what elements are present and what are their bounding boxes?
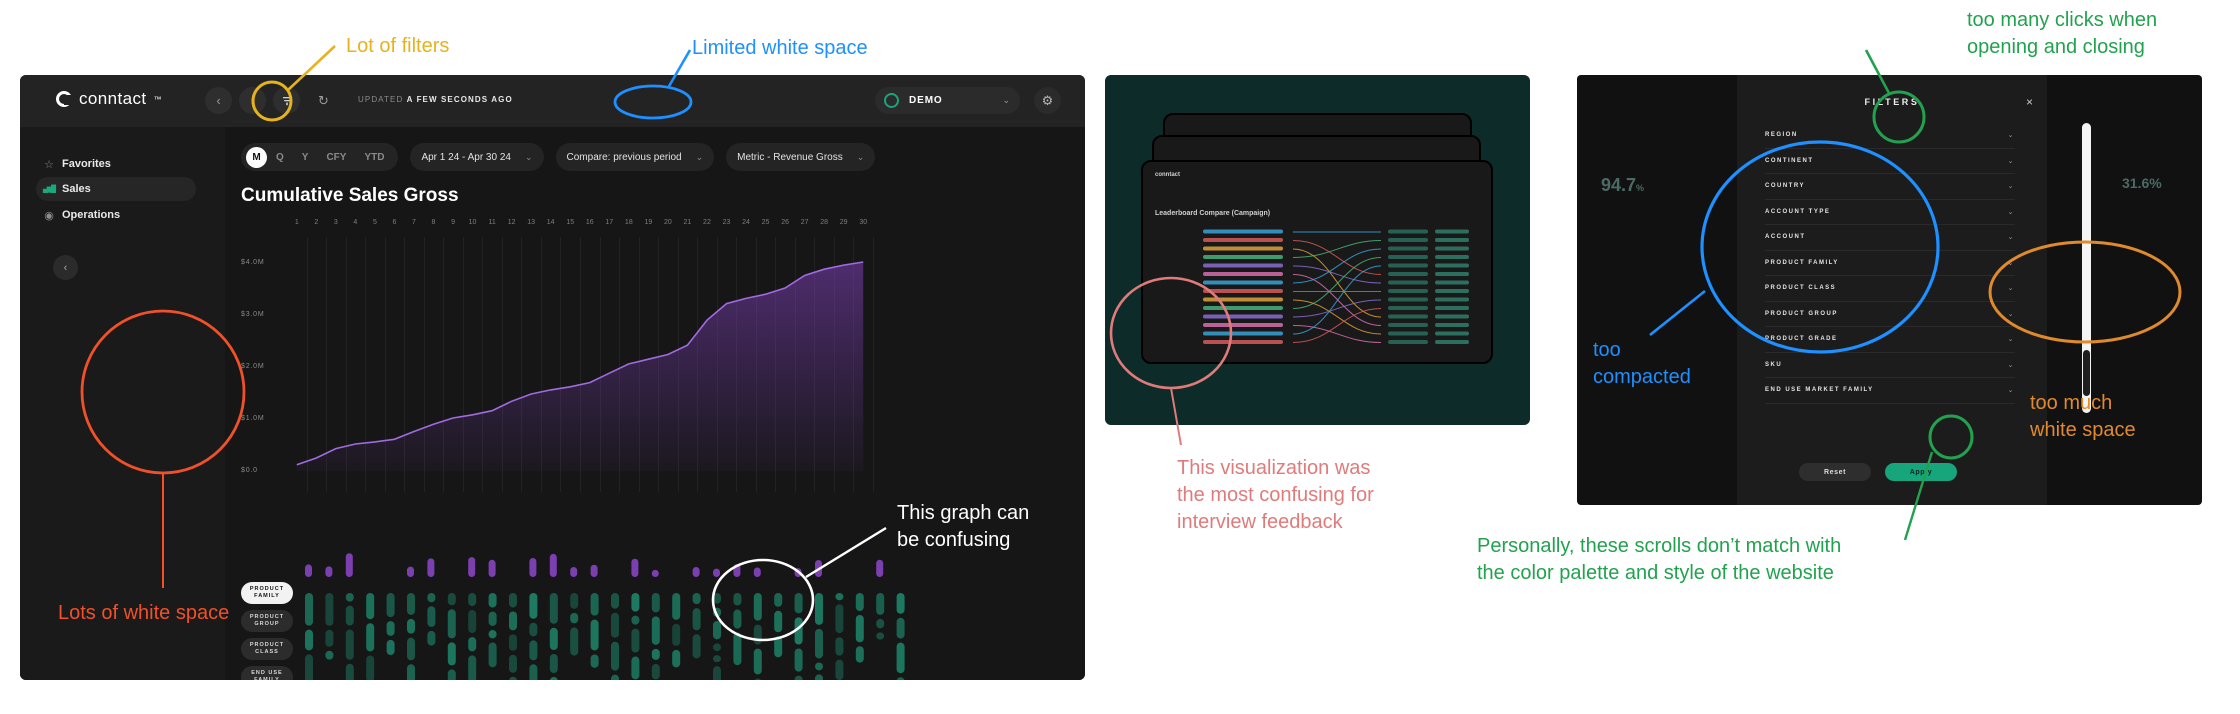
heatmap-capsule [407, 664, 415, 680]
heatmap-capsule [672, 593, 680, 620]
heatmap-capsule [856, 615, 864, 642]
heatmap-capsule [366, 623, 374, 651]
app-topbar: conntact ™ ‹ › ↻ UPDATED A FEW SECONDS A… [20, 75, 1085, 127]
flow-bar [1435, 247, 1469, 251]
chart-plot [241, 219, 881, 499]
flow-bar [1203, 298, 1283, 302]
heatmap-capsule [509, 611, 517, 630]
annotation-scrolls: Personally, these scrolls don’t match wi… [1477, 533, 1841, 587]
heatmap-capsule [652, 649, 660, 660]
heatmap-capsule [774, 636, 782, 657]
sidebar: ☆ Favorites ▄▆█ Sales ◉ Operations ‹ [20, 127, 225, 680]
flow-bar [1388, 306, 1428, 310]
flow-bar [1388, 315, 1428, 319]
heatmap-capsule [346, 593, 354, 602]
heatmap-capsule [693, 593, 701, 604]
heatmap-capsule [489, 642, 497, 667]
heatmap-capsule [774, 611, 782, 632]
heatmap-capsule [489, 593, 497, 608]
filter-row-label: COUNTRY [1765, 183, 1805, 189]
flow-bar [1435, 315, 1469, 319]
category-pill-line: END USE [251, 670, 282, 677]
heatmap-capsule [468, 637, 476, 651]
heatmap-capsule [876, 632, 884, 639]
flow-bar [1203, 272, 1283, 276]
gear-icon[interactable]: ⚙ [1034, 87, 1061, 114]
heatmap-capsule [795, 676, 803, 680]
flow-bar [1388, 281, 1428, 285]
updated-prefix: UPDATED [358, 95, 403, 104]
heatmap-capsule [733, 610, 741, 629]
category-selector: PRODUCTFAMILYPRODUCTGROUPPRODUCTCLASSEND… [241, 582, 293, 680]
star-icon: ☆ [36, 158, 62, 171]
nav-forward-button[interactable]: › [239, 87, 266, 114]
heatmap-capsule [448, 609, 456, 638]
filter-row-label: PRODUCT CLASS [1765, 285, 1836, 291]
period-option-m[interactable]: M [246, 147, 267, 168]
chevron-down-icon: ⌄ [2008, 233, 2015, 241]
chevron-down-icon: ⌄ [696, 152, 704, 163]
device-mock-front: conntact Leaderboard Compare (Campaign) [1141, 160, 1493, 364]
period-option-ytd[interactable]: YTD [355, 152, 393, 163]
flow-bar [1388, 247, 1428, 251]
flow-bar [1435, 255, 1469, 259]
heatmap-capsule [591, 565, 598, 577]
gauge-icon: ◉ [36, 209, 62, 222]
flow-ribbon [1293, 241, 1381, 258]
filters-modal: FILTERS × REGION⌄CONTINENT⌄COUNTRY⌄ACCOU… [1737, 75, 2047, 505]
heatmap-capsule [631, 616, 639, 625]
category-pill-line: CLASS [255, 649, 279, 656]
heatmap-capsule [570, 613, 578, 624]
annotation-lot-of-filters: Lot of filters [346, 33, 449, 60]
heatmap-capsule [652, 593, 660, 612]
heatmap-capsule [754, 568, 761, 577]
heatmap-capsule [591, 620, 599, 651]
heatmap-capsule [346, 553, 353, 577]
filter-row[interactable]: CONTINENT⌄ [1765, 149, 2015, 175]
heatmap-capsule [897, 593, 905, 614]
heatmap-capsule [795, 617, 803, 644]
flow-bar [1435, 272, 1469, 276]
heatmap-capsule [387, 640, 395, 655]
filter-row-label: ACCOUNT TYPE [1765, 209, 1830, 215]
filter-row[interactable]: END USE MARKET FAMILY⌄ [1765, 378, 2015, 404]
heatmap-capsule [325, 593, 333, 626]
chevron-down-icon: ⌄ [1002, 95, 1010, 106]
heatmap-capsule [693, 567, 700, 577]
heatmap-capsule [815, 674, 823, 680]
flow-bar [1203, 340, 1283, 344]
parallel-flow-visual [1143, 162, 1491, 362]
heatmap-capsule [672, 624, 680, 646]
flow-bar [1435, 323, 1469, 327]
heatmap-capsule [366, 593, 374, 619]
heatmap-capsule [611, 593, 619, 609]
chevron-down-icon: ⌄ [2008, 182, 2015, 190]
chevron-down-icon: ⌄ [857, 152, 865, 163]
flow-bar [1388, 272, 1428, 276]
heatmap-capsule [468, 610, 476, 633]
heatmap-capsule [325, 630, 333, 647]
flow-bar [1435, 340, 1469, 344]
heatmap-capsule [489, 612, 497, 626]
logo-trademark: ™ [153, 95, 161, 104]
heatmap-capsule [489, 630, 497, 639]
heatmap-capsule [835, 637, 843, 655]
heatmap-capsule [652, 570, 659, 577]
heatmap-capsule [631, 657, 639, 680]
heatmap-capsule [672, 650, 680, 668]
chevron-down-icon: ⌄ [2008, 335, 2015, 343]
heatmap-capsule [713, 608, 721, 617]
filter-row-label: REGION [1765, 132, 1798, 138]
heatmap-capsule [346, 664, 354, 680]
category-pill-line: FAMILY [254, 677, 280, 680]
flow-bar [1203, 230, 1283, 234]
flow-bar [1435, 281, 1469, 285]
filter-row-label: ACCOUNT [1765, 234, 1806, 240]
account-ring-icon [884, 93, 899, 108]
category-pill-line: PRODUCT [250, 614, 284, 621]
bar-chart-icon: ▄▆█ [36, 185, 62, 193]
filter-row[interactable]: ACCOUNT⌄ [1765, 225, 2015, 251]
heatmap-capsule [387, 593, 395, 617]
filter-glyph [281, 95, 293, 107]
metric-value: Metric - Revenue Gross [737, 152, 843, 163]
heatmap-capsule [468, 557, 475, 577]
account-label: DEMO [909, 95, 943, 106]
flow-bar [1203, 289, 1283, 293]
chevron-down-icon: ⌄ [2008, 310, 2015, 318]
chevron-down-icon: ⌄ [2008, 361, 2015, 369]
heatmap-capsule [550, 654, 558, 673]
annotation-too-compacted: too compacted [1593, 337, 1691, 391]
chevron-down-icon: ⌄ [2008, 386, 2015, 394]
heatmap-capsule [427, 631, 435, 646]
category-pill[interactable]: PRODUCTGROUP [241, 610, 293, 632]
updated-status: UPDATED A FEW SECONDS AGO [358, 95, 513, 104]
chevron-down-icon: ⌄ [2008, 259, 2015, 267]
heatmap-capsule [835, 660, 843, 680]
filters-actions: Reset Apply [1799, 463, 1957, 481]
annotation-graph-confusing: This graph can be confusing [897, 500, 1029, 554]
heatmap-capsule [550, 677, 558, 680]
chevron-down-icon: ⌄ [2008, 131, 2015, 139]
heatmap-capsule [448, 642, 456, 665]
heatmap-capsule [427, 593, 435, 602]
heatmap-capsule [468, 655, 476, 680]
heatmap-capsule [652, 616, 660, 644]
apply-button[interactable]: Apply [1885, 463, 1957, 481]
filter-row[interactable]: ACCOUNT TYPE⌄ [1765, 200, 2015, 226]
category-pill-line: PRODUCT [250, 586, 284, 593]
heatmap-capsule [529, 593, 537, 619]
flow-bar [1388, 323, 1428, 327]
heatmap-capsule [795, 648, 803, 671]
flow-bar [1388, 264, 1428, 268]
heatmap-capsule [631, 593, 639, 612]
heatmap-capsule [856, 593, 864, 611]
filter-row-label: SKU [1765, 362, 1782, 368]
heatmap-capsule [733, 593, 741, 606]
blurred-kpi-left: 94.7% [1601, 175, 1644, 196]
annotation-too-many-clicks: too many clicks when opening and closing [1967, 7, 2157, 61]
category-pill-line: GROUP [254, 621, 279, 628]
heatmap-capsule [897, 618, 905, 639]
nav-back-button[interactable]: ‹ [205, 87, 232, 114]
annotation-limited-white-space: Limited white space [692, 35, 868, 62]
heatmap-capsule [570, 627, 578, 655]
flow-bar [1203, 315, 1283, 319]
heatmap-capsule [325, 566, 332, 577]
logo-text: conntact [79, 89, 146, 109]
filter-toolbar: MQYCFYYTD Apr 1 24 - Apr 30 24 ⌄ Compare… [241, 143, 875, 171]
heatmap-capsule [713, 593, 721, 604]
flow-bar [1435, 230, 1469, 234]
heatmap-capsule [529, 558, 536, 577]
heatmap-capsule [897, 643, 905, 674]
heatmap-capsule [570, 593, 578, 609]
category-pill-line: FAMILY [254, 593, 280, 600]
heatmap-capsule [897, 677, 905, 680]
heatmap-capsule [876, 593, 884, 615]
filter-row-label: PRODUCT GROUP [1765, 311, 1838, 317]
heatmap-capsule [631, 559, 638, 577]
filter-row-label: PRODUCT FAMILY [1765, 260, 1839, 266]
heatmap-capsule [856, 646, 864, 662]
heatmap-capsule [693, 608, 701, 630]
heatmap-capsule [611, 642, 619, 671]
filter-row[interactable]: COUNTRY⌄ [1765, 174, 2015, 200]
heatmap-capsule [591, 593, 599, 616]
heatmap-capsule [407, 638, 415, 661]
compare-dropdown[interactable]: Compare: previous period ⌄ [556, 143, 715, 171]
flow-bar [1388, 298, 1428, 302]
filter-row[interactable]: PRODUCT GROUP⌄ [1765, 302, 2015, 328]
flow-ribbon [1293, 326, 1381, 343]
dashboard-content: MQYCFYYTD Apr 1 24 - Apr 30 24 ⌄ Compare… [225, 127, 1085, 680]
period-option-q[interactable]: Q [267, 152, 293, 163]
category-heatmap [299, 547, 919, 680]
heatmap-capsule [631, 629, 639, 653]
date-range-dropdown[interactable]: Apr 1 24 - Apr 30 24 ⌄ [410, 143, 543, 171]
heatmap-capsule [693, 634, 701, 658]
date-range-value: Apr 1 24 - Apr 30 24 [421, 152, 511, 163]
chart-title: Cumulative Sales Gross [241, 185, 459, 207]
chart-area-fill [297, 262, 863, 471]
heatmap-capsule [815, 662, 823, 670]
heatmap-capsule [713, 666, 721, 680]
heatmap-capsule [713, 655, 721, 662]
devices-screenshot: conntact Leaderboard Compare (Campaign) [1105, 75, 1530, 425]
category-pill[interactable]: PRODUCTFAMILY [241, 582, 293, 604]
flow-bar [1203, 281, 1283, 285]
heatmap-capsule [570, 567, 577, 577]
heatmap-capsule [550, 593, 558, 624]
heatmap-capsule [346, 630, 354, 660]
close-icon[interactable]: × [2026, 95, 2033, 109]
heatmap-capsule [815, 560, 822, 577]
flow-bar [1435, 289, 1469, 293]
heatmap-capsule [611, 613, 619, 638]
chevron-down-icon: ⌄ [2008, 284, 2015, 292]
heatmap-capsule [733, 633, 741, 665]
heatmap-capsule [529, 640, 537, 660]
flow-bar [1203, 264, 1283, 268]
sidebar-item-label: Sales [62, 183, 91, 195]
heatmap-capsule [529, 623, 537, 637]
sidebar-item-sales[interactable]: ▄▆█ Sales [36, 177, 196, 201]
refresh-button[interactable]: ↻ [310, 87, 337, 114]
heatmap-capsule [305, 630, 313, 651]
cumulative-sales-chart: 1234567891011121314151617181920212223242… [241, 219, 881, 539]
flow-bar [1435, 306, 1469, 310]
annotation-lots-of-white-space: Lots of white space [58, 600, 229, 627]
flow-bar [1435, 238, 1469, 242]
filter-row[interactable]: PRODUCT GRADE⌄ [1765, 327, 2015, 353]
filter-row[interactable]: SKU⌄ [1765, 353, 2015, 379]
heatmap-capsule [407, 619, 415, 634]
filter-row-label: CONTINENT [1765, 158, 1814, 164]
heatmap-capsule [774, 593, 782, 607]
heatmap-capsule [550, 554, 557, 577]
period-option-y[interactable]: Y [293, 152, 318, 163]
heatmap-capsule [407, 567, 414, 577]
heatmap-capsule [713, 569, 720, 577]
sidebar-item-operations[interactable]: ◉ Operations [36, 203, 196, 227]
flow-bar [1388, 238, 1428, 242]
blurred-kpi-right: 31.6% [2122, 175, 2162, 191]
heatmap-capsule [835, 593, 843, 600]
annotation-too-much-white-space: too much white space [2030, 390, 2136, 444]
filters-title: FILTERS [1737, 97, 2047, 107]
heatmap-capsule [305, 593, 313, 626]
reset-button[interactable]: Reset [1799, 463, 1871, 481]
heatmap-capsule [611, 675, 619, 680]
flow-bar [1203, 255, 1283, 259]
updated-value: A FEW SECONDS AGO [407, 95, 513, 104]
flow-bar [1203, 238, 1283, 242]
flow-bar [1388, 230, 1428, 234]
heatmap-capsule [550, 628, 558, 650]
heatmap-capsule [876, 619, 884, 628]
heatmap-capsule [448, 669, 456, 680]
flow-bar [1388, 340, 1428, 344]
flow-bar [1203, 306, 1283, 310]
logo-mark-icon [56, 91, 72, 107]
filter-icon[interactable] [273, 87, 300, 114]
flow-bar [1435, 332, 1469, 336]
heatmap-capsule [795, 593, 803, 613]
heatmap-capsule [733, 564, 740, 577]
heatmap-capsule [509, 655, 517, 673]
heatmap-capsule [652, 664, 660, 679]
flow-bar [1388, 255, 1428, 259]
heatmap-capsule [448, 593, 456, 605]
period-toggle[interactable]: MQYCFYYTD [241, 143, 398, 171]
flow-bar [1435, 264, 1469, 268]
flow-bar [1388, 289, 1428, 293]
annotation-visualization-confusing: This visualization was the most confusin… [1177, 455, 1374, 535]
sidebar-item-label: Favorites [62, 158, 111, 170]
flow-bar [1203, 332, 1283, 336]
filter-row[interactable]: PRODUCT FAMILY⌄ [1765, 251, 2015, 277]
heatmap-capsule [366, 655, 374, 680]
sidebar-item-label: Operations [62, 209, 120, 221]
heatmap-capsule [591, 654, 599, 667]
chevron-down-icon: ⌄ [525, 152, 533, 163]
period-option-cfy[interactable]: CFY [317, 152, 355, 163]
flow-ribbon [1293, 249, 1381, 283]
heatmap-capsule [835, 604, 843, 633]
compare-value: Compare: previous period [567, 152, 682, 163]
heatmap-capsule [468, 593, 476, 606]
heatmap-capsule [713, 643, 721, 651]
heatmap-capsule [509, 593, 517, 607]
filter-row-label: PRODUCT GRADE [1765, 336, 1838, 342]
heatmap-capsule [427, 606, 435, 627]
heatmap-capsule [509, 634, 517, 650]
filter-row-label: END USE MARKET FAMILY [1765, 387, 1874, 393]
filters-list: REGION⌄CONTINENT⌄COUNTRY⌄ACCOUNT TYPE⌄AC… [1765, 123, 2015, 404]
filter-row[interactable]: PRODUCT CLASS⌄ [1765, 276, 2015, 302]
heatmap-capsule [754, 678, 762, 680]
filter-row[interactable]: REGION⌄ [1765, 123, 2015, 149]
heatmap-capsule [815, 629, 823, 659]
flow-bar [1388, 332, 1428, 336]
heatmap-capsule [876, 560, 883, 577]
heatmap-capsule [325, 651, 333, 660]
category-pill[interactable]: PRODUCTCLASS [241, 638, 293, 660]
metric-dropdown[interactable]: Metric - Revenue Gross ⌄ [726, 143, 875, 171]
category-pill-line: PRODUCT [250, 642, 284, 649]
chevron-down-icon: ⌄ [2008, 208, 2015, 216]
heatmap-capsule [795, 568, 802, 577]
heatmap-capsule [713, 621, 721, 639]
heatmap-capsule [489, 560, 496, 577]
heatmap-capsule [305, 654, 313, 680]
sidebar-collapse-button[interactable]: ‹ [53, 255, 78, 280]
chevron-down-icon: ⌄ [2008, 157, 2015, 165]
heatmap-capsule [427, 558, 434, 577]
heatmap-capsule [387, 621, 395, 636]
flow-bar [1203, 323, 1283, 327]
heatmap-capsule [407, 593, 415, 615]
heatmap-capsule [346, 606, 354, 626]
heatmap-capsule [815, 593, 823, 625]
account-selector[interactable]: DEMO ⌄ [875, 87, 1020, 114]
heatmap-capsule [754, 625, 762, 645]
flow-bar [1435, 298, 1469, 302]
heatmap-capsule [529, 664, 537, 680]
heatmap-capsule [509, 677, 517, 680]
heatmap-capsule [754, 593, 762, 621]
dashboard-screenshot: conntact ™ ‹ › ↻ UPDATED A FEW SECONDS A… [20, 75, 1085, 680]
flow-bar [1203, 247, 1283, 251]
heatmap-capsule [754, 649, 762, 675]
category-pill[interactable]: END USEFAMILY [241, 666, 293, 680]
app-logo: conntact ™ [56, 89, 161, 109]
heatmap-capsule [305, 564, 312, 577]
sidebar-item-favorites[interactable]: ☆ Favorites [36, 152, 196, 176]
flow-ribbon [1293, 300, 1381, 334]
